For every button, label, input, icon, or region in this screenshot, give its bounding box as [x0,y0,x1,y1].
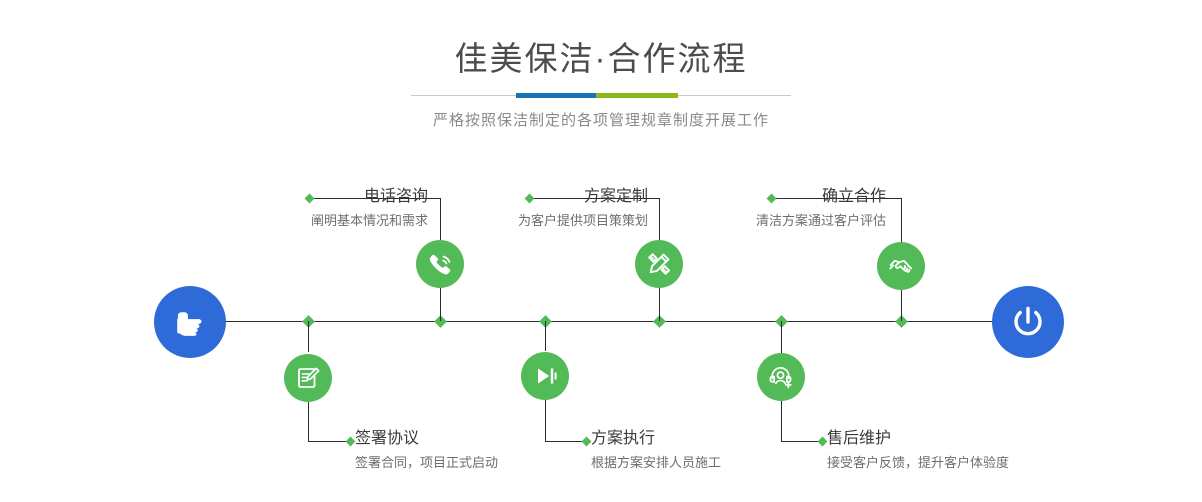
step-description: 阐明基本情况和需求 [311,208,428,231]
label-connector-diamond [582,437,592,447]
phone-call-icon [426,250,454,278]
step-label-top-1: 电话咨询 阐明基本情况和需求 [311,186,428,231]
step-label-bottom-1: 签署协议 签署合同，项目正式启动 [355,428,498,473]
timeline-end-node [992,286,1064,358]
connector-horizontal [781,441,822,442]
step-title: 电话咨询 [311,186,428,208]
connector-vertical [545,321,546,351]
step-description: 根据方案安排人员施工 [591,450,721,473]
step-description: 为客户提供项目策策划 [518,208,648,231]
pointing-hand-icon [170,302,210,342]
step-title: 签署协议 [355,428,498,450]
label-connector-diamond [346,437,356,447]
step-icon-play-execute [521,352,569,400]
connector-vertical [781,401,782,441]
handshake-icon [887,252,915,280]
connector-vertical [308,402,309,441]
connector-vertical [659,198,660,240]
timeline-start-node [154,286,226,358]
step-title: 方案定制 [518,186,648,208]
power-icon [1007,301,1049,343]
connector-vertical [440,288,441,321]
step-icon-document-pen [284,354,332,402]
step-icon-pencil-ruler [635,240,683,288]
step-description: 清洁方案通过客户评估 [756,208,886,231]
connector-vertical [440,198,441,242]
step-title: 确立合作 [756,186,886,208]
process-flow-infographic: 佳美保洁·合作流程 严格按照保洁制定的各项管理规章制度开展工作 [0,0,1202,502]
connector-vertical [659,288,660,321]
document-pen-icon [294,364,322,392]
connector-vertical [901,198,902,242]
step-title: 售后维护 [827,428,1009,450]
step-label-bottom-3: 售后维护 接受客户反馈，提升客户体验度 [827,428,1009,473]
step-title: 方案执行 [591,428,721,450]
connector-vertical [308,321,309,352]
connector-horizontal [545,441,586,442]
pencil-ruler-icon [645,250,673,278]
connector-horizontal [308,441,350,442]
timeline: 电话咨询 阐明基本情况和需求 [0,0,1202,502]
step-description: 接受客户反馈，提升客户体验度 [827,450,1009,473]
step-icon-handshake [877,242,925,290]
step-description: 签署合同，项目正式启动 [355,450,498,473]
play-execute-icon [531,362,559,390]
connector-vertical [901,290,902,321]
step-label-top-2: 方案定制 为客户提供项目策策划 [518,186,648,231]
connector-vertical [781,321,782,353]
step-icon-phone-call [416,240,464,288]
label-connector-diamond [818,437,828,447]
step-icon-headset-support [757,353,805,401]
step-label-top-3: 确立合作 清洁方案通过客户评估 [756,186,886,231]
headset-support-icon [767,363,795,391]
connector-vertical [545,400,546,441]
step-label-bottom-2: 方案执行 根据方案安排人员施工 [591,428,721,473]
timeline-axis [175,321,1010,322]
